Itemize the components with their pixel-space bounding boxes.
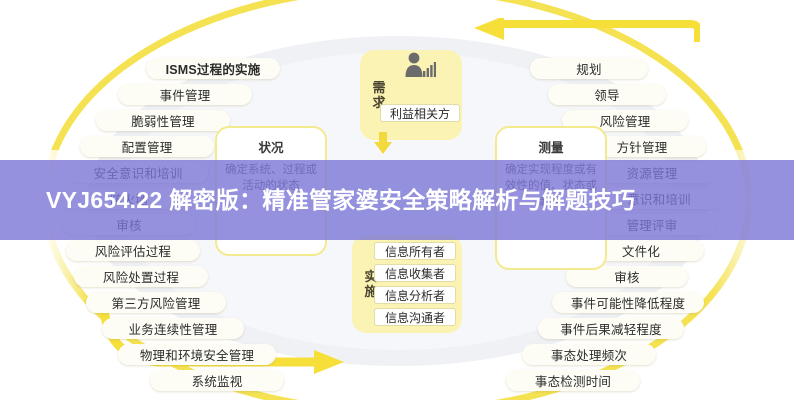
left-pill-label: 业务连续性管理 bbox=[129, 319, 218, 338]
process-box-item[interactable]: 信息收集者 bbox=[374, 264, 456, 282]
left-pill-label: 风险评估过程 bbox=[95, 241, 171, 260]
left-pill-label: ISMS过程的实施 bbox=[166, 59, 261, 78]
process-box-item-label: 利益相关方 bbox=[390, 105, 450, 122]
left-pill-label: 系统监视 bbox=[192, 371, 243, 390]
arrow-down-icon bbox=[374, 132, 392, 154]
process-box-item-label: 信息所有者 bbox=[385, 243, 445, 260]
right-pill-label: 事件后果减轻程度 bbox=[560, 319, 662, 338]
process-box-item-label: 信息沟通者 bbox=[385, 309, 445, 326]
title-banner: VYJ654.22 解密版：精准管家婆安全策略解析与解题技巧 bbox=[0, 160, 794, 240]
process-box-item[interactable]: 信息所有者 bbox=[374, 242, 456, 260]
right-pill-label: 事件可能性降低程度 bbox=[571, 293, 685, 312]
process-box-item-label: 信息分析者 bbox=[385, 287, 445, 304]
arrow-left-icon bbox=[470, 18, 700, 44]
left-pill[interactable]: 第三方风险管理 bbox=[86, 292, 226, 313]
diagram-canvas: ISMS过程的实施事件管理脆弱性管理配置管理安全意识和培训防火墙审核风险评估过程… bbox=[0, 0, 794, 400]
left-pill-label: 风险处置过程 bbox=[103, 267, 179, 286]
left-pill[interactable]: 系统监视 bbox=[150, 370, 284, 391]
process-box-item[interactable]: 利益相关方 bbox=[380, 104, 460, 122]
left-pill[interactable]: 物理和环境安全管理 bbox=[118, 344, 276, 365]
left-pill-label: 事件管理 bbox=[160, 85, 211, 104]
right-pill-label: 事态检测时间 bbox=[535, 371, 611, 390]
left-pill[interactable]: 配置管理 bbox=[80, 136, 214, 157]
right-pill[interactable]: 事态检测时间 bbox=[506, 370, 640, 391]
right-pill[interactable]: 事件可能性降低程度 bbox=[552, 292, 704, 313]
left-pill-label: 脆弱性管理 bbox=[131, 111, 195, 130]
left-pill[interactable]: 业务连续性管理 bbox=[102, 318, 244, 339]
right-pill[interactable]: 领导 bbox=[548, 84, 666, 105]
person-chart-icon bbox=[402, 52, 436, 78]
right-pill-label: 风险管理 bbox=[600, 111, 651, 130]
left-pill[interactable]: 事件管理 bbox=[118, 84, 252, 105]
card-title: 状况 bbox=[258, 137, 283, 156]
left-pill-label: 物理和环境安全管理 bbox=[140, 345, 254, 364]
right-pill-label: 文件化 bbox=[622, 241, 660, 260]
right-pill[interactable]: 规划 bbox=[530, 58, 648, 79]
right-pill[interactable]: 事件后果减轻程度 bbox=[538, 318, 684, 339]
right-pill[interactable]: 事态处理频次 bbox=[522, 344, 656, 365]
left-pill-label: 第三方风险管理 bbox=[112, 293, 201, 312]
card-title: 测量 bbox=[538, 137, 563, 156]
left-pill[interactable]: ISMS过程的实施 bbox=[146, 58, 280, 79]
right-pill-label: 方针管理 bbox=[617, 137, 668, 156]
banner-title: VYJ654.22 解密版：精准管家婆安全策略解析与解题技巧 bbox=[0, 185, 675, 215]
right-pill-label: 领导 bbox=[594, 85, 619, 104]
process-box-item-label: 信息收集者 bbox=[385, 265, 445, 282]
process-box-item[interactable]: 信息沟通者 bbox=[374, 308, 456, 326]
right-pill-label: 审核 bbox=[614, 267, 639, 286]
right-pill-label: 事态处理频次 bbox=[551, 345, 627, 364]
left-pill[interactable]: 脆弱性管理 bbox=[96, 110, 230, 131]
left-pill-label: 配置管理 bbox=[122, 137, 173, 156]
right-pill-label: 规划 bbox=[576, 59, 601, 78]
left-pill[interactable]: 风险处置过程 bbox=[74, 266, 208, 287]
left-pill[interactable]: 风险评估过程 bbox=[66, 240, 200, 261]
process-box-item[interactable]: 信息分析者 bbox=[374, 286, 456, 304]
